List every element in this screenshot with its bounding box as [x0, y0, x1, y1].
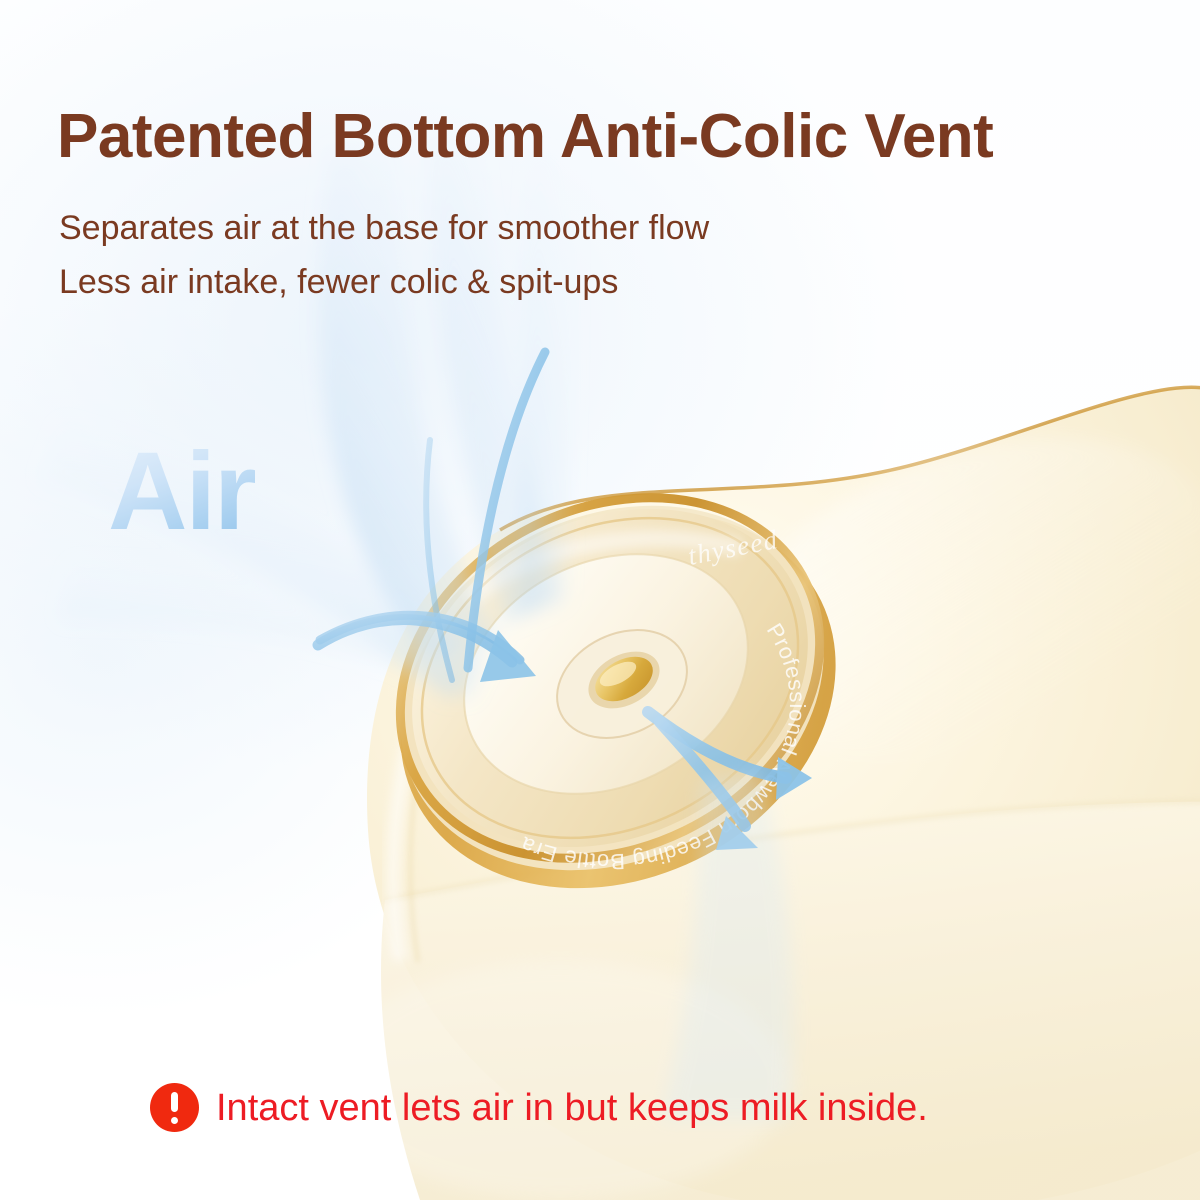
alert-exclamation-icon	[150, 1083, 199, 1132]
caption-text: Intact vent lets air in but keeps milk i…	[216, 1089, 928, 1127]
caption-row: Intact vent lets air in but keeps milk i…	[150, 1083, 928, 1132]
subtitle-line-1: Separates air at the base for smoother f…	[59, 208, 709, 249]
infographic-canvas: thyseed Professional Newborn Feeding Bot…	[0, 0, 1200, 1200]
air-label: Air	[108, 437, 255, 547]
subtitle-line-2: Less air intake, fewer colic & spit-ups	[59, 262, 618, 303]
page-title: Patented Bottom Anti-Colic Vent	[57, 104, 993, 169]
background-wash	[0, 0, 1200, 1200]
